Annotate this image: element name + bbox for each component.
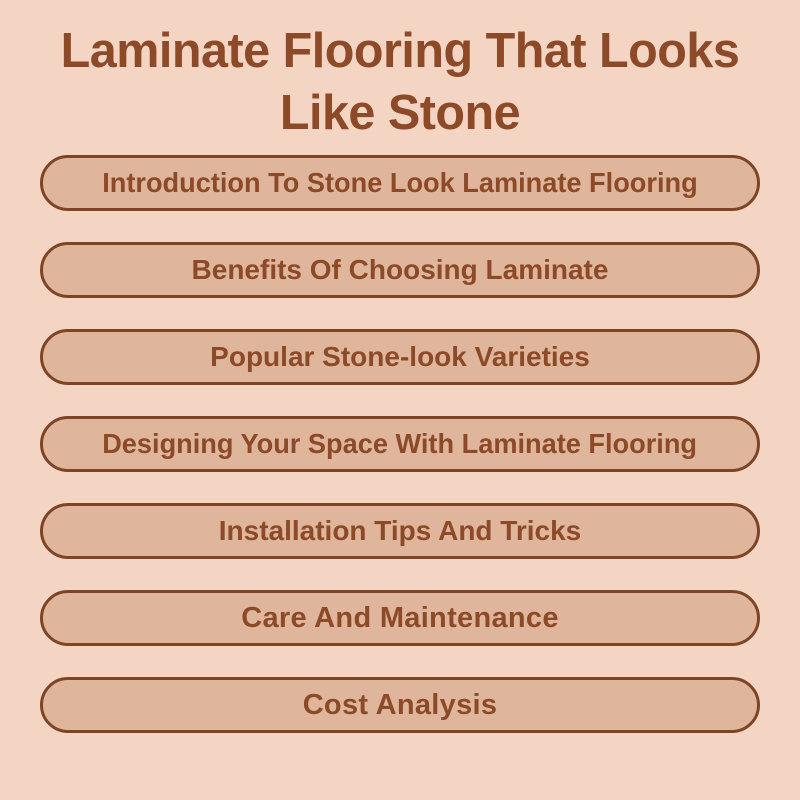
outline-item-introduction-to-stone-look-laminate-flooring[interactable]: Introduction To Stone Look Laminate Floo… — [40, 155, 760, 211]
outline-item-label: Installation Tips And Tricks — [219, 516, 582, 546]
outline-item-installation-tips-and-tricks[interactable]: Installation Tips And Tricks — [40, 503, 760, 559]
outline-list: Introduction To Stone Look Laminate Floo… — [40, 155, 760, 733]
page-title-line-1: Laminate Flooring That Looks — [24, 20, 776, 82]
outline-item-label: Cost Analysis — [303, 690, 498, 720]
infographic-canvas: Laminate Flooring That Looks Like Stone … — [0, 0, 800, 800]
outline-item-label: Introduction To Stone Look Laminate Floo… — [102, 168, 697, 198]
outline-item-designing-your-space-with-laminate-flooring[interactable]: Designing Your Space With Laminate Floor… — [40, 416, 760, 472]
outline-item-popular-stone-look-varieties[interactable]: Popular Stone-look Varieties — [40, 329, 760, 385]
outline-item-label: Popular Stone-look Varieties — [210, 342, 590, 372]
outline-item-label: Designing Your Space With Laminate Floor… — [103, 429, 698, 459]
page-title-line-2: Like Stone — [24, 82, 776, 144]
outline-item-benefits-of-choosing-laminate[interactable]: Benefits Of Choosing Laminate — [40, 242, 760, 298]
outline-item-label: Care And Maintenance — [241, 603, 559, 633]
outline-item-cost-analysis[interactable]: Cost Analysis — [40, 677, 760, 733]
outline-item-care-and-maintenance[interactable]: Care And Maintenance — [40, 590, 760, 646]
outline-item-label: Benefits Of Choosing Laminate — [192, 255, 609, 285]
page-title: Laminate Flooring That Looks Like Stone — [20, 20, 780, 144]
